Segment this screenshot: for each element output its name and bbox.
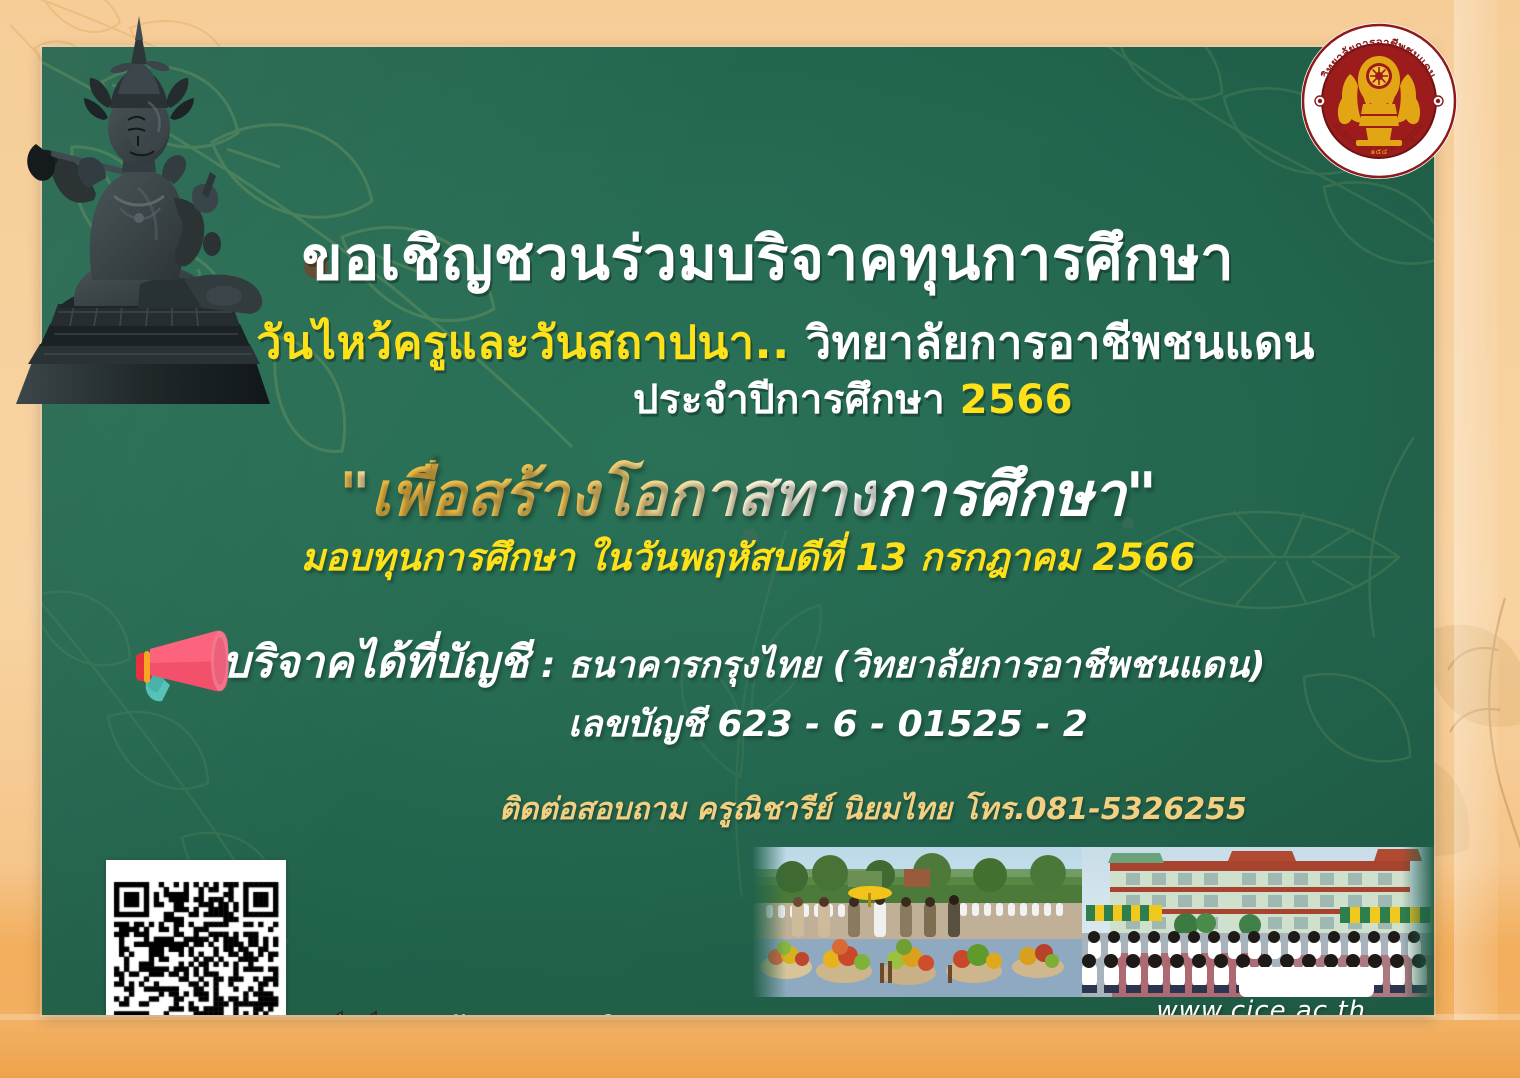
quote-gold-part: เพื่อสร้างโอกาสทาง [370,460,875,530]
double-arrow-left-icon [314,1010,378,1015]
donation-lead-label: บริจาคได้ที่บัญชี [222,637,528,688]
headline-line-2-rest: วิทยาลัยการอาชีพชนแดน [790,316,1315,369]
poster-canvas: ขอเชิญชวนร่วมบริจาคทุนการศึกษา ..วันไหว้… [0,0,1520,1078]
triangle-left-yellow-icon [314,1010,344,1015]
quote-line: "เพื่อสร้างโอกาสทางการศึกษา" [42,465,1434,525]
white-placeholder-box [1239,967,1374,997]
college-seal-icon: วิทยาลัยการอาชีพชนแดน อ.ชนแดน จ.เพชรบูรณ… [1300,22,1458,180]
quote-open: " [339,460,370,530]
megaphone-icon [124,623,234,715]
headline-line-3-text: ประจำปีการศึกษา [633,377,960,423]
donation-separator: : [528,645,567,686]
quote-close: " [1126,460,1157,530]
border-bottom-band [0,1020,1520,1078]
account-number-line: เลขบัญชี 623 - 6 - 01525 - 2 [42,707,1434,743]
donation-account-line: บริจาคได้ที่บัญชี : ธนาคารกรุงไทย (วิทยา… [222,641,1265,685]
qr-code-icon[interactable] [106,860,286,1015]
ceremony-offerings-photo [752,847,1082,997]
award-date-line: มอบทุนการศึกษา ในวันพฤหัสบดีที่ 13 กรกฎา… [42,539,1434,576]
website-url[interactable]: www.cice.ac.th [1156,996,1366,1015]
triangle-left-red-icon [348,1010,378,1015]
quote-white-part: การศึกษา [876,460,1126,530]
donation-bank-name: ธนาคารกรุงไทย (วิทยาลัยการอาชีพชนแดน) [568,645,1266,686]
qr-code-canvas [106,860,286,1015]
seal-inner-mark: ๑๕๔ [1370,147,1387,156]
send-evidence-label: ส่งหลักฐานการบริจาค [390,1014,665,1016]
send-evidence-row[interactable]: ส่งหลักฐานการบริจาค [314,1010,665,1015]
board-leaf-right-icon [1114,377,1434,857]
headline-line-2-highlight: ..วันไหว้ครูและวันสถาปนา.. [221,316,790,369]
headline-year: 2566 [960,377,1073,423]
border-highlight-strip [1454,0,1498,1078]
contact-line: ติดต่อสอบถาม ครูณิชารีย์ นิยมไทย โทร.081… [42,795,1434,825]
deity-statue-image [0,12,298,422]
